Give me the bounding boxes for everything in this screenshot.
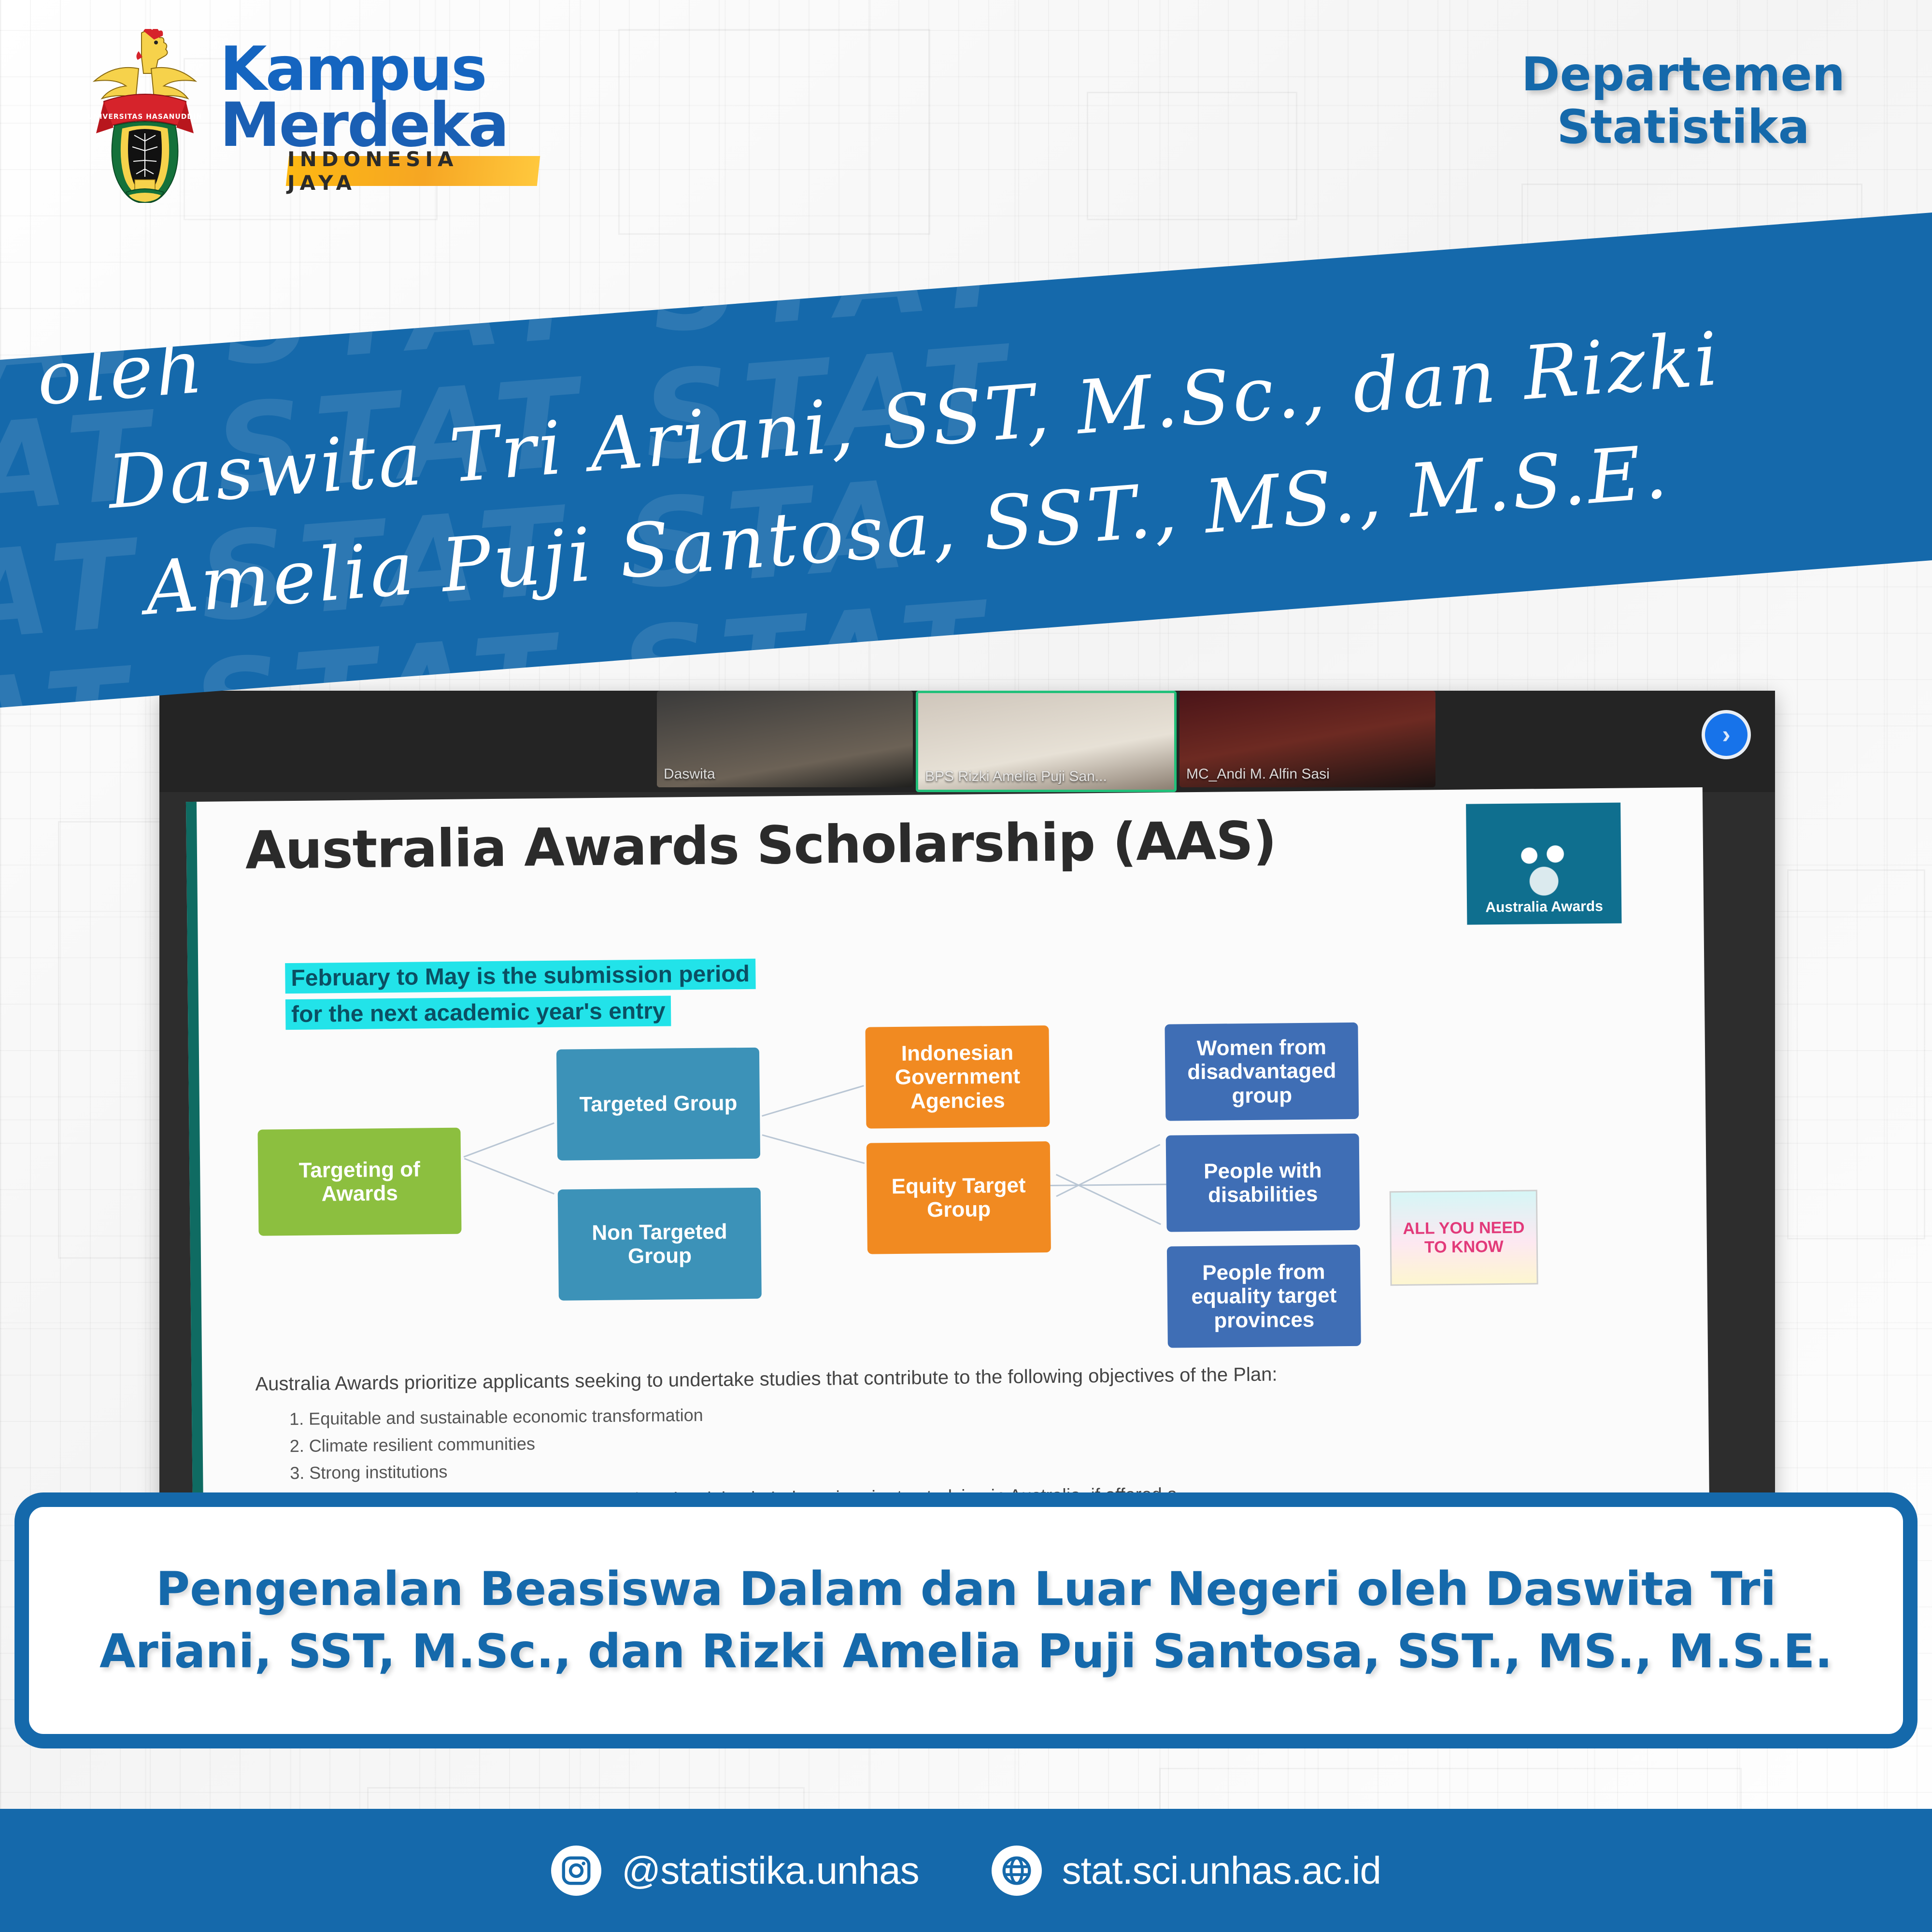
participant-tile[interactable]: BPS Rizki Amelia Puji San... xyxy=(916,691,1177,792)
department-line-1: Departemen xyxy=(1521,48,1845,101)
website-contact[interactable]: stat.sci.unhas.ac.id xyxy=(992,1846,1381,1896)
instagram-handle: @statistika.unhas xyxy=(622,1848,919,1893)
kampus-merdeka-wordmark: Kampus Merdeka INDONESIA JAYA xyxy=(220,41,539,191)
flow-node-indonesian-government-agencies: Indonesian Government Agencies xyxy=(865,1025,1050,1129)
flow-node-non-targeted-group: Non Targeted Group xyxy=(558,1188,762,1301)
presentation-slide: Australia Awards Scholarship (AAS) Austr… xyxy=(186,787,1709,1512)
slide-title: Australia Awards Scholarship (AAS) xyxy=(245,807,1674,881)
svg-text:UNIVERSITAS HASANUDDIN: UNIVERSITAS HASANUDDIN xyxy=(87,113,202,121)
kampus-merdeka-logo-lockup: UNIVERSITAS HASANUDDIN xyxy=(85,29,539,203)
zoom-meeting-screenshot: Daswita BPS Rizki Amelia Puji San... MC_… xyxy=(159,691,1775,1512)
slide-bullet-list: Australia Awards prioritize applicants s… xyxy=(255,1358,1633,1512)
globe-icon xyxy=(992,1846,1042,1896)
poster-root: UNIVERSITAS HASANUDDIN xyxy=(0,0,1932,1932)
chevron-right-icon[interactable]: › xyxy=(1702,710,1751,759)
participant-tile[interactable]: Daswita xyxy=(657,691,913,787)
participant-name: BPS Rizki Amelia Puji San... xyxy=(925,768,1167,785)
highlight-line-1: February to May is the submission period xyxy=(285,959,755,994)
logo-ribbon: INDONESIA JAYA xyxy=(286,156,540,186)
flow-node-women-disadvantaged: Women from disadvantaged group xyxy=(1165,1023,1359,1121)
flow-node-targeted-group: Targeted Group xyxy=(556,1048,760,1161)
logo-ribbon-label: INDONESIA JAYA xyxy=(287,147,539,195)
flow-node-targeting-of-awards: Targeting of Awards xyxy=(257,1128,461,1236)
australia-crest-icon xyxy=(1507,828,1580,896)
page-header: UNIVERSITAS HASANUDDIN xyxy=(0,0,1932,227)
department-title: Departemen Statistika xyxy=(1521,48,1845,154)
card-title-line-1: Pengenalan Beasiswa Dalam dan Luar Neger… xyxy=(99,1558,1833,1620)
australia-awards-logo: Australia Awards xyxy=(1466,803,1621,925)
highlight-line-2: for the next academic year's entry xyxy=(285,995,671,1030)
instagram-icon xyxy=(551,1846,601,1896)
all-you-need-to-know-sticker: ALL YOU NEED TO KNOW xyxy=(1390,1190,1538,1286)
australia-awards-label: Australia Awards xyxy=(1485,898,1603,916)
flow-node-people-with-disabilities: People with disabilities xyxy=(1166,1134,1360,1232)
flow-node-equity-target-group: Equity Target Group xyxy=(867,1141,1051,1254)
highlight-note: February to May is the submission period… xyxy=(285,956,768,1033)
page-footer: @statistika.unhas stat.sci.unhas.ac.id xyxy=(0,1809,1932,1932)
universitas-hasanuddin-emblem-icon: UNIVERSITAS HASANUDDIN xyxy=(85,29,205,203)
card-title: Pengenalan Beasiswa Dalam dan Luar Neger… xyxy=(99,1558,1833,1682)
logo-line-kampus: Kampus xyxy=(220,41,539,97)
logo-line-merdeka: Merdeka xyxy=(220,97,539,153)
website-url: stat.sci.unhas.ac.id xyxy=(1062,1848,1381,1893)
title-card: Pengenalan Beasiswa Dalam dan Luar Neger… xyxy=(14,1492,1918,1748)
card-title-line-2: Ariani, SST, M.Sc., dan Rizki Amelia Puj… xyxy=(99,1620,1833,1683)
participant-name: Daswita xyxy=(664,766,906,782)
department-line-2: Statistika xyxy=(1521,101,1845,154)
instagram-contact[interactable]: @statistika.unhas xyxy=(551,1846,919,1896)
participant-tile[interactable]: MC_Andi M. Alfin Sasi xyxy=(1179,691,1435,787)
flow-node-equality-target-provinces: People from equality target provinces xyxy=(1167,1245,1361,1348)
participant-name: MC_Andi M. Alfin Sasi xyxy=(1186,766,1429,782)
slide-numbered-list: Equitable and sustainable economic trans… xyxy=(309,1392,1633,1486)
participant-video-strip: Daswita BPS Rizki Amelia Puji San... MC_… xyxy=(159,691,1775,792)
